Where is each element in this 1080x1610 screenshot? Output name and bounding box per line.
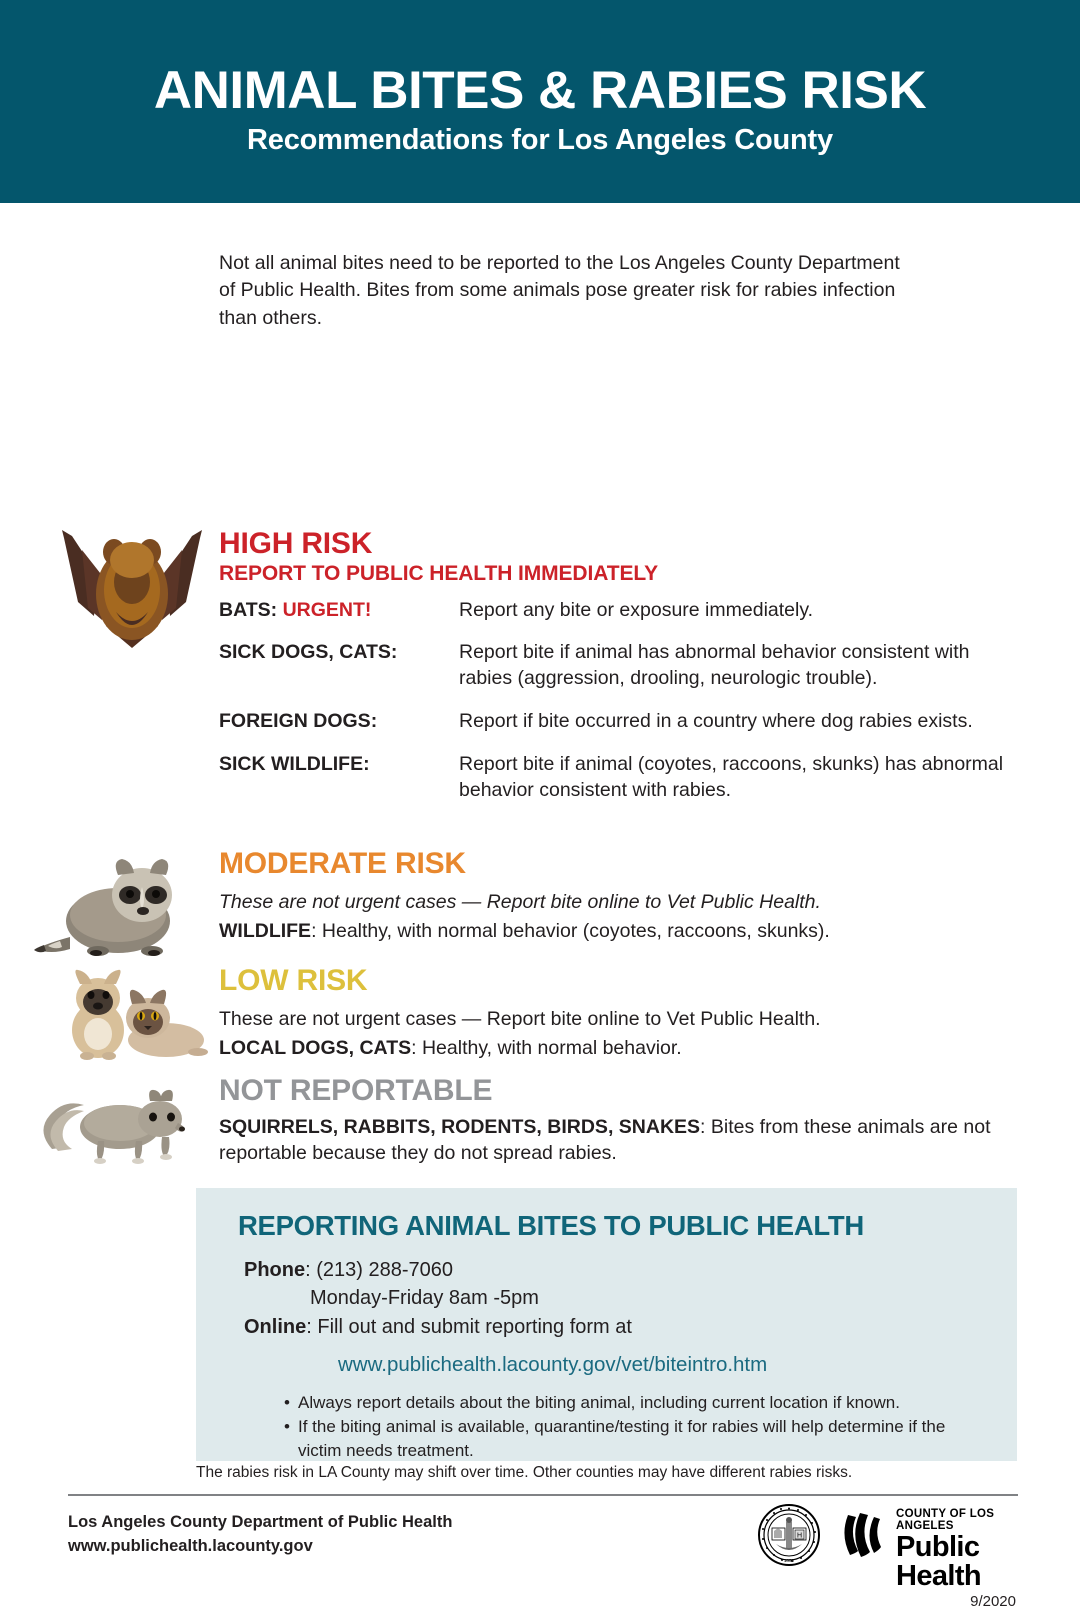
online-label: Online bbox=[244, 1316, 306, 1338]
section-not-reportable: NOT REPORTABLE SQUIRRELS, RABBITS, RODEN… bbox=[219, 1075, 1009, 1167]
phone-label: Phone bbox=[244, 1259, 305, 1281]
local-dogs-cats-text: : Healthy, with normal behavior. bbox=[411, 1037, 682, 1059]
page-header: ANIMAL BITES & RABIES RISK Recommendatio… bbox=[0, 0, 1080, 203]
section-high-risk: HIGH RISK REPORT TO PUBLIC HEALTH IMMEDI… bbox=[219, 528, 1009, 821]
footer-divider bbox=[68, 1494, 1018, 1496]
moderate-risk-animals: WILDLIFE: Healthy, with normal behavior … bbox=[219, 918, 1009, 945]
list-item: If the biting animal is available, quara… bbox=[284, 1415, 993, 1462]
list-item: Always report details about the biting a… bbox=[284, 1391, 993, 1414]
hours-value: Monday-Friday 8am -5pm bbox=[244, 1284, 539, 1312]
page-subtitle: Recommendations for Los Angeles County bbox=[247, 124, 833, 157]
high-risk-row-label: BATS: URGENT! bbox=[219, 598, 459, 641]
contact-block: Phone: (213) 288-7060 Monday-Friday 8am … bbox=[244, 1256, 993, 1341]
online-line: Online: Fill out and submit reporting fo… bbox=[244, 1313, 993, 1341]
not-reportable-animals: SQUIRRELS, RABBITS, RODENTS, BIRDS, SNAK… bbox=[219, 1114, 1009, 1168]
high-risk-row-value: Report if bite occurred in a country whe… bbox=[459, 709, 1004, 752]
intro-paragraph: Not all animal bites need to be reported… bbox=[219, 250, 909, 333]
low-risk-animals: LOCAL DOGS, CATS: Healthy, with normal b… bbox=[219, 1035, 1009, 1062]
reporting-info-box: REPORTING ANIMAL BITES TO PUBLIC HEALTH … bbox=[196, 1188, 1017, 1461]
not-reportable-label: SQUIRRELS, RABBITS, RODENTS, BIRDS, SNAK… bbox=[219, 1116, 700, 1138]
table-row: FOREIGN DOGS: Report if bite occurred in… bbox=[219, 709, 1004, 752]
bat-photo bbox=[42, 516, 222, 676]
footer-credits: Los Angeles County Department of Public … bbox=[68, 1511, 452, 1559]
moderate-risk-title: MODERATE RISK bbox=[219, 848, 1009, 880]
wildlife-text: : Healthy, with normal behavior (coyotes… bbox=[311, 920, 830, 942]
high-risk-row-label: SICK WILDLIFE: bbox=[219, 752, 459, 821]
logo-main-text: Public Health bbox=[896, 1533, 1020, 1591]
low-risk-title: LOW RISK bbox=[219, 965, 1009, 997]
bats-label: BATS: bbox=[219, 599, 277, 621]
high-risk-subtitle: REPORT TO PUBLIC HEALTH IMMEDIATELY bbox=[219, 562, 1009, 586]
disclaimer-text: The rabies risk in LA County may shift o… bbox=[196, 1464, 996, 1482]
high-risk-row-value: Report bite if animal (coyotes, raccoons… bbox=[459, 752, 1004, 821]
high-risk-title: HIGH RISK bbox=[219, 528, 1009, 560]
high-risk-row-value: Report any bite or exposure immediately. bbox=[459, 598, 1004, 641]
hours-line: Monday-Friday 8am -5pm bbox=[244, 1284, 993, 1312]
high-risk-row-value: Report bite if animal has abnormal behav… bbox=[459, 640, 1004, 709]
local-dogs-cats-label: LOCAL DOGS, CATS bbox=[219, 1037, 411, 1059]
svg-text:H: H bbox=[797, 1533, 802, 1540]
urgent-badge: URGENT! bbox=[283, 599, 372, 621]
logo-date: 9/2020 bbox=[842, 1593, 1020, 1610]
public-health-logo: COUNTY OF LOS ANGELES Public Health 9/20… bbox=[842, 1501, 1020, 1610]
high-risk-row-label: FOREIGN DOGS: bbox=[219, 709, 459, 752]
moderate-risk-note: These are not urgent cases — Report bite… bbox=[219, 889, 1009, 916]
reporting-box-heading: REPORTING ANIMAL BITES TO PUBLIC HEALTH bbox=[238, 1210, 993, 1242]
la-county-seal-icon: H 1850 bbox=[758, 1504, 820, 1571]
table-row: SICK WILDLIFE: Report bite if animal (co… bbox=[219, 752, 1004, 821]
table-row: SICK DOGS, CATS: Report bite if animal h… bbox=[219, 640, 1004, 709]
squirrel-photo bbox=[32, 1075, 212, 1167]
footer-org: Los Angeles County Department of Public … bbox=[68, 1511, 452, 1535]
not-reportable-title: NOT REPORTABLE bbox=[219, 1075, 1009, 1107]
raccoon-photo bbox=[30, 853, 210, 963]
phone-line: Phone: (213) 288-7060 bbox=[244, 1256, 993, 1284]
sick-wildlife-label: SICK WILDLIFE bbox=[219, 753, 363, 775]
footer-logos: H 1850 bbox=[758, 1501, 1020, 1583]
sick-dogs-cats-label: SICK DOGS, CATS bbox=[219, 641, 391, 663]
wildlife-label: WILDLIFE bbox=[219, 920, 311, 942]
foreign-dogs-label: FOREIGN DOGS bbox=[219, 710, 371, 732]
logo-top-text: COUNTY OF LOS ANGELES bbox=[896, 1501, 1020, 1532]
section-moderate-risk: MODERATE RISK These are not urgent cases… bbox=[219, 848, 1009, 945]
table-row: BATS: URGENT! Report any bite or exposur… bbox=[219, 598, 1004, 641]
high-risk-row-label: SICK DOGS, CATS: bbox=[219, 640, 459, 709]
high-risk-table: BATS: URGENT! Report any bite or exposur… bbox=[219, 598, 1004, 822]
low-risk-note: These are not urgent cases — Report bite… bbox=[219, 1006, 1009, 1033]
online-value: : Fill out and submit reporting form at bbox=[306, 1316, 632, 1338]
reporting-url[interactable]: www.publichealth.lacounty.gov/vet/bitein… bbox=[338, 1353, 993, 1377]
svg-text:1850: 1850 bbox=[784, 1558, 795, 1563]
reporting-notes-list: Always report details about the biting a… bbox=[284, 1391, 993, 1462]
phone-value: : (213) 288-7060 bbox=[305, 1259, 453, 1281]
page-title: ANIMAL BITES & RABIES RISK bbox=[154, 64, 926, 118]
footer-website[interactable]: www.publichealth.lacounty.gov bbox=[68, 1535, 452, 1559]
dog-cat-photo bbox=[40, 968, 215, 1063]
section-low-risk: LOW RISK These are not urgent cases — Re… bbox=[219, 965, 1009, 1062]
